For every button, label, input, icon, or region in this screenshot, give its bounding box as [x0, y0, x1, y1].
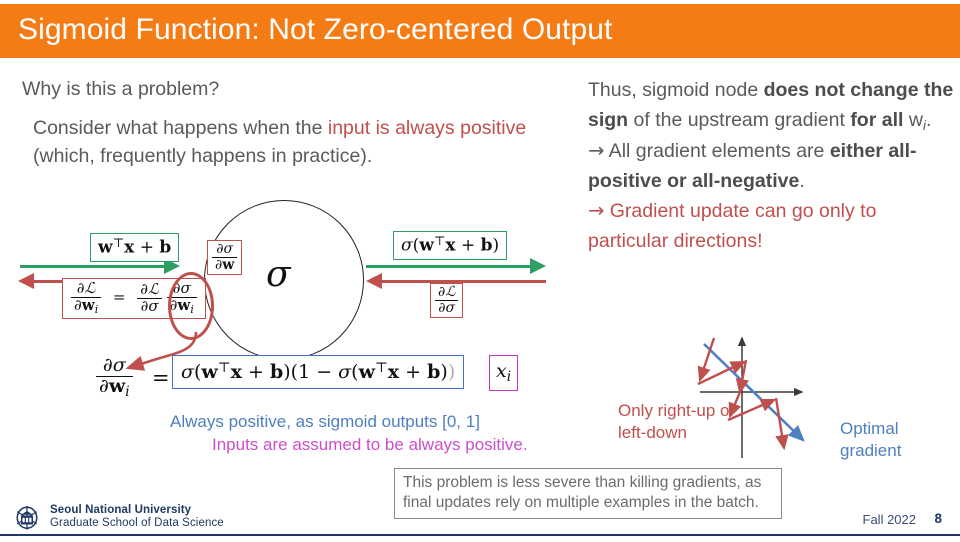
question-line: Why is this a problem? [22, 78, 219, 101]
right-p1-bold-2: for all [850, 109, 903, 131]
zigzag-label-red: Only right-up or left-down [618, 400, 748, 444]
forward-input-label: w⊤x + b [90, 233, 179, 262]
zigzag-arrow-1 [700, 338, 714, 380]
forward-arrow-output-line [366, 265, 532, 268]
snu-crest-icon [12, 502, 42, 532]
footer-page-number: 8 [934, 511, 942, 526]
backward-arrow-input-head [18, 273, 34, 289]
equation-lhs: ∂σ ∂wi [96, 356, 133, 399]
consider-text-highlight: input is always positive [328, 117, 526, 139]
slide-canvas: Sigmoid Function: Not Zero-centered Outp… [0, 0, 960, 542]
zigzag-arrow-6 [776, 398, 784, 448]
right-p1-end: . [926, 109, 931, 131]
right-p1-wi: w [909, 109, 923, 131]
backward-arrow-output-head [366, 273, 382, 289]
equation-input-term: xi [489, 355, 518, 391]
forward-output-label: σ(w⊤x + b) [393, 231, 507, 260]
equation-sigmoid-derivative-term: σ(w⊤x + b)(1 − σ(w⊤x + b)) [172, 355, 464, 389]
forward-arrow-output-head [530, 258, 546, 274]
consider-text-post: (which, frequently happens in practice). [33, 145, 372, 167]
note-line-1: This problem is less severe than killing… [403, 474, 761, 491]
university-logo: Seoul National University Graduate Schoo… [12, 502, 224, 532]
note-line-2: final updates rely on multiple examples … [403, 494, 759, 511]
right-p3-arrow: → [588, 199, 604, 222]
footer-term: Fall 2022 [863, 512, 916, 527]
title-bar: Sigmoid Function: Not Zero-centered Outp… [0, 4, 960, 58]
right-p2-end: . [799, 170, 804, 192]
footer-divider [0, 534, 960, 536]
right-p3-text: Gradient update can go only to particula… [588, 200, 876, 252]
equation-equals-sign: = [152, 366, 170, 390]
derivative-equation-row: ∂σ ∂wi = σ(w⊤x + b)(1 − σ(w⊤x + b)) xi [0, 352, 600, 404]
forward-arrow-input-line [20, 265, 168, 268]
consider-text-pre: Consider what happens when the [33, 117, 328, 139]
consider-paragraph: Consider what happens when the input is … [33, 115, 573, 170]
logo-text-block: Seoul National University Graduate Schoo… [50, 504, 224, 530]
right-p1-pre: Thus, sigmoid node [588, 79, 764, 101]
backward-arrow-output-line [382, 280, 546, 283]
slide-title: Sigmoid Function: Not Zero-centered Outp… [18, 13, 613, 47]
right-p2-pre: All gradient elements are [604, 140, 829, 162]
local-gradient-label: ∂σ ∂w [207, 240, 242, 275]
right-p1-mid: of the upstream gradient [628, 109, 850, 131]
right-p2-arrow: → [588, 139, 604, 162]
sigma-node-label: σ [266, 257, 291, 293]
upstream-gradient-label: ∂ℒ ∂σ [430, 283, 463, 318]
org-name: Seoul National University [50, 504, 224, 517]
org-subtitle: Graduate School of Data Science [50, 517, 224, 530]
right-column-text: Thus, sigmoid node does not change the s… [588, 76, 956, 256]
caption-inputs-positive: Inputs are assumed to be always positive… [212, 435, 528, 455]
highlight-ellipse [168, 272, 214, 340]
zigzag-label-blue: Optimal gradient [840, 418, 950, 462]
caption-sigmoid-range: Always positive, as sigmoid outputs [0, … [170, 412, 480, 432]
note-box: This problem is less severe than killing… [394, 468, 782, 519]
